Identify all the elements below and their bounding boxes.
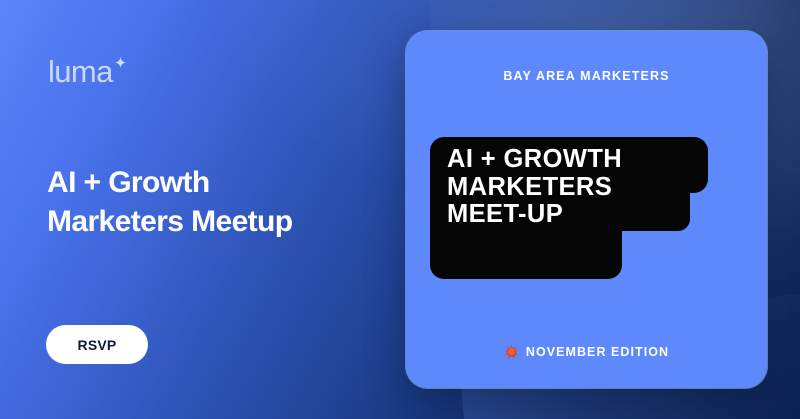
rsvp-button[interactable]: RSVP [46,325,148,364]
card-footer: NOVEMBER EDITION [406,344,767,359]
luma-wordmark: luma [48,56,113,87]
sparkle-icon [115,57,126,68]
left-panel: luma AI + Growth Marketers Meetup RSVP [0,0,400,419]
luma-logo[interactable]: luma [48,56,126,87]
event-poster-card[interactable]: BAY AREA MARKETERS AI + GROWTH MARKETERS… [406,31,767,388]
event-banner: luma AI + Growth Marketers Meetup RSVP B… [0,0,800,419]
edition-label: NOVEMBER EDITION [526,345,669,359]
page-title: AI + Growth Marketers Meetup [47,163,377,241]
maple-leaf-icon [504,344,519,359]
card-eyebrow-label: BAY AREA MARKETERS [406,69,767,83]
poster-blob: AI + GROWTH MARKETERS MEET-UP [430,137,730,279]
poster-headline: AI + GROWTH MARKETERS MEET-UP [447,146,717,229]
